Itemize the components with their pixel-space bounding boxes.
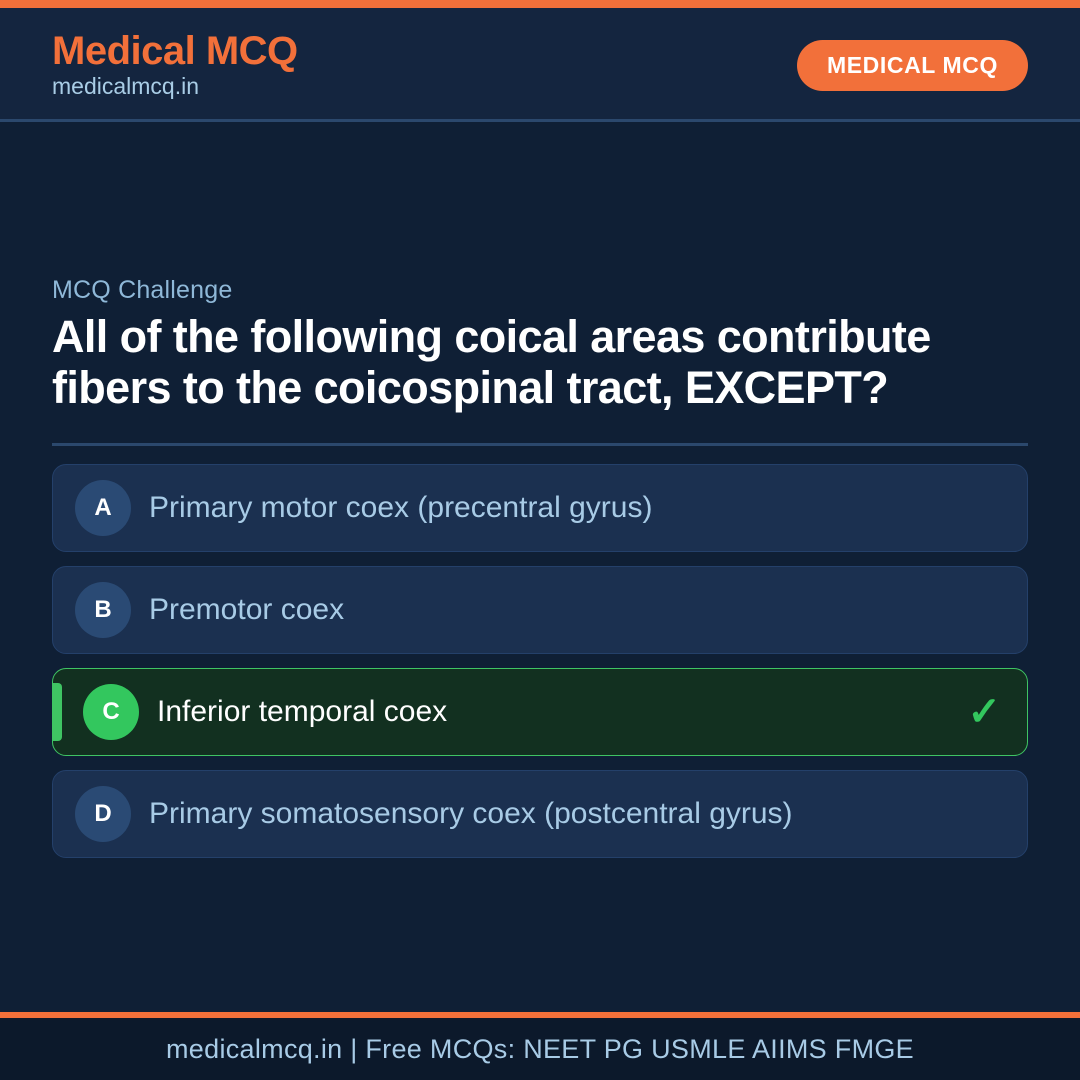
option-badge-a: A	[75, 480, 131, 536]
option-row-d[interactable]: D Primary somatosensory coex (postcentra…	[52, 770, 1028, 858]
eyebrow-label: MCQ Challenge	[52, 276, 1028, 305]
question-text: All of the following coical areas contri…	[52, 311, 1002, 414]
footer-text: medicalmcq.in | Free MCQs: NEET PG USMLE…	[166, 1034, 914, 1065]
option-text-c: Inferior temporal coex	[157, 694, 959, 730]
option-text-d: Primary somatosensory coex (postcentral …	[149, 796, 959, 832]
option-check-icon-c: ✓	[959, 692, 1001, 732]
question-divider	[52, 443, 1028, 446]
option-badge-d: D	[75, 786, 131, 842]
brand-title: Medical MCQ	[52, 30, 298, 72]
option-text-a: Primary motor coex (precentral gyrus)	[149, 490, 959, 526]
options-list: A Primary motor coex (precentral gyrus) …	[52, 464, 1028, 858]
top-accent-rule	[0, 0, 1080, 8]
option-text-b: Premotor coex	[149, 592, 959, 628]
brand-subtitle: medicalmcq.in	[52, 74, 298, 99]
option-badge-c: C	[83, 684, 139, 740]
footer-bar: medicalmcq.in | Free MCQs: NEET PG USMLE…	[0, 1012, 1080, 1080]
mcq-card: Medical MCQ medicalmcq.in MEDICAL MCQ MC…	[0, 0, 1080, 1080]
option-badge-b: B	[75, 582, 131, 638]
main-content: MCQ Challenge All of the following coica…	[0, 122, 1080, 1012]
option-row-a[interactable]: A Primary motor coex (precentral gyrus)	[52, 464, 1028, 552]
brand-block: Medical MCQ medicalmcq.in	[52, 30, 298, 99]
option-row-b[interactable]: B Premotor coex	[52, 566, 1028, 654]
brand-badge: MEDICAL MCQ	[797, 40, 1028, 91]
header-bar: Medical MCQ medicalmcq.in MEDICAL MCQ	[0, 8, 1080, 122]
option-row-c[interactable]: C Inferior temporal coex ✓	[52, 668, 1028, 756]
